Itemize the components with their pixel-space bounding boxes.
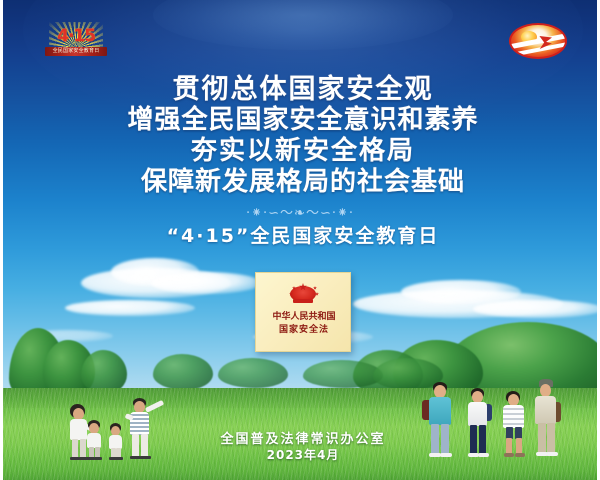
torso	[503, 405, 524, 428]
shoe	[440, 453, 452, 457]
shoe	[546, 452, 558, 456]
leg	[516, 438, 522, 454]
torso	[429, 397, 451, 425]
shoe	[94, 457, 102, 460]
leg	[72, 439, 78, 458]
decorative-divider: ·⁕·∽〜❧〜∽·⁕·	[195, 206, 405, 222]
leg	[132, 434, 139, 457]
national-emblem-icon	[288, 282, 318, 304]
shoe	[504, 453, 514, 457]
torso	[87, 433, 101, 448]
shoe	[515, 453, 525, 457]
person-student-3	[497, 386, 529, 460]
students-group-photo	[421, 374, 561, 460]
title-line-3: 夯实以新安全格局	[3, 136, 600, 167]
title-line-4: 保障新发展格局的社会基础	[3, 167, 600, 198]
law-book-title-line-1: 中华人民共和国	[256, 311, 352, 324]
leg	[506, 438, 512, 454]
law-book-title: 中华人民共和国 国家安全法	[256, 311, 352, 337]
leg	[547, 423, 555, 453]
person-student-1	[423, 380, 457, 460]
leg	[441, 424, 449, 454]
leg	[431, 424, 439, 454]
title-block: 贯彻总体国家安全观 增强全民国家安全意识和素养 夯实以新安全格局 保障新发展格局…	[3, 74, 600, 198]
torso	[535, 396, 556, 424]
sky-ripple-inner-decoration	[153, 0, 453, 50]
leg	[479, 425, 486, 454]
subtitle-text: “4·15”全民国家安全教育日	[3, 224, 600, 248]
title-line-2: 增强全民国家安全意识和素养	[3, 105, 600, 136]
leg	[470, 425, 477, 454]
shoe	[140, 456, 151, 459]
law-book-title-line-2: 国家安全法	[256, 324, 352, 337]
arm-raised	[145, 400, 164, 413]
person-student-4	[531, 378, 561, 460]
family-group-photo	[55, 388, 165, 460]
torso	[468, 402, 487, 426]
person-father	[121, 394, 163, 460]
shoe	[478, 453, 489, 457]
title-line-1: 贯彻总体国家安全观	[3, 74, 600, 105]
leg	[538, 423, 546, 453]
person-student-2	[463, 384, 493, 460]
emblem-base	[293, 299, 313, 303]
poster-root: 4·15 全民国家安全教育日 贯彻总体国家安全观 增强全民国家安全意识和素养 夯…	[0, 0, 600, 480]
leg	[141, 434, 148, 457]
law-book-cover: 中华人民共和国 国家安全法	[255, 272, 351, 352]
